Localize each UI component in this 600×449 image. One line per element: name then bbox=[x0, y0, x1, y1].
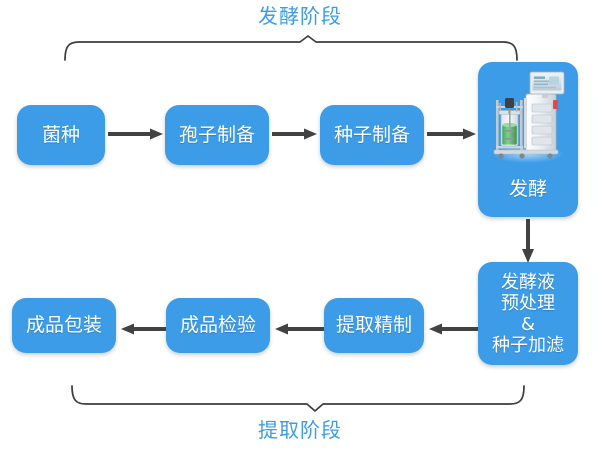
node-product-inspection[interactable]: 成品检验 bbox=[166, 298, 270, 353]
node-broth-pretreatment-label-line1: 发酵液 bbox=[501, 272, 555, 293]
node-product-packaging-label: 成品包装 bbox=[26, 314, 102, 337]
node-spore-preparation[interactable]: 孢子制备 bbox=[165, 105, 269, 165]
node-product-inspection-label: 成品检验 bbox=[180, 314, 256, 337]
arrow-seed-to-fermentation bbox=[427, 128, 477, 140]
arrow-pretreatment-to-extraction bbox=[428, 323, 478, 335]
node-seed-preparation-label: 种子制备 bbox=[334, 124, 410, 147]
brace-fermentation-stage bbox=[55, 28, 525, 68]
node-strain-label: 菌种 bbox=[42, 124, 80, 147]
arrow-strain-to-spore bbox=[108, 128, 164, 140]
arrow-fermentation-to-pretreatment bbox=[520, 219, 536, 264]
stage-label-fermentation: 发酵阶段 bbox=[0, 4, 600, 28]
node-fermentation[interactable]: 发酵 bbox=[478, 62, 578, 217]
node-broth-pretreatment[interactable]: 发酵液 预处理 & 种子加滤 bbox=[478, 262, 578, 365]
arrow-extraction-to-inspection bbox=[274, 323, 324, 335]
node-strain[interactable]: 菌种 bbox=[17, 105, 105, 165]
node-broth-pretreatment-label-line3: & bbox=[521, 314, 535, 335]
node-product-packaging[interactable]: 成品包装 bbox=[12, 298, 116, 353]
bioreactor-icon bbox=[486, 70, 570, 166]
brace-extraction-stage bbox=[62, 382, 532, 416]
node-extraction-refining-label: 提取精制 bbox=[336, 314, 412, 337]
node-seed-preparation[interactable]: 种子制备 bbox=[320, 105, 424, 165]
arrow-spore-to-seed bbox=[272, 128, 318, 140]
node-fermentation-label: 发酵 bbox=[509, 178, 547, 201]
flowchart-canvas: 发酵阶段 菌种 孢子制备 种子制备 bbox=[0, 0, 600, 449]
node-broth-pretreatment-label-line2: 预处理 bbox=[501, 293, 555, 314]
arrow-inspection-to-packaging bbox=[120, 323, 166, 335]
node-extraction-refining[interactable]: 提取精制 bbox=[324, 298, 424, 353]
node-spore-preparation-label: 孢子制备 bbox=[179, 124, 255, 147]
node-broth-pretreatment-label-line4: 种子加滤 bbox=[492, 335, 564, 356]
stage-label-extraction: 提取阶段 bbox=[0, 418, 600, 442]
